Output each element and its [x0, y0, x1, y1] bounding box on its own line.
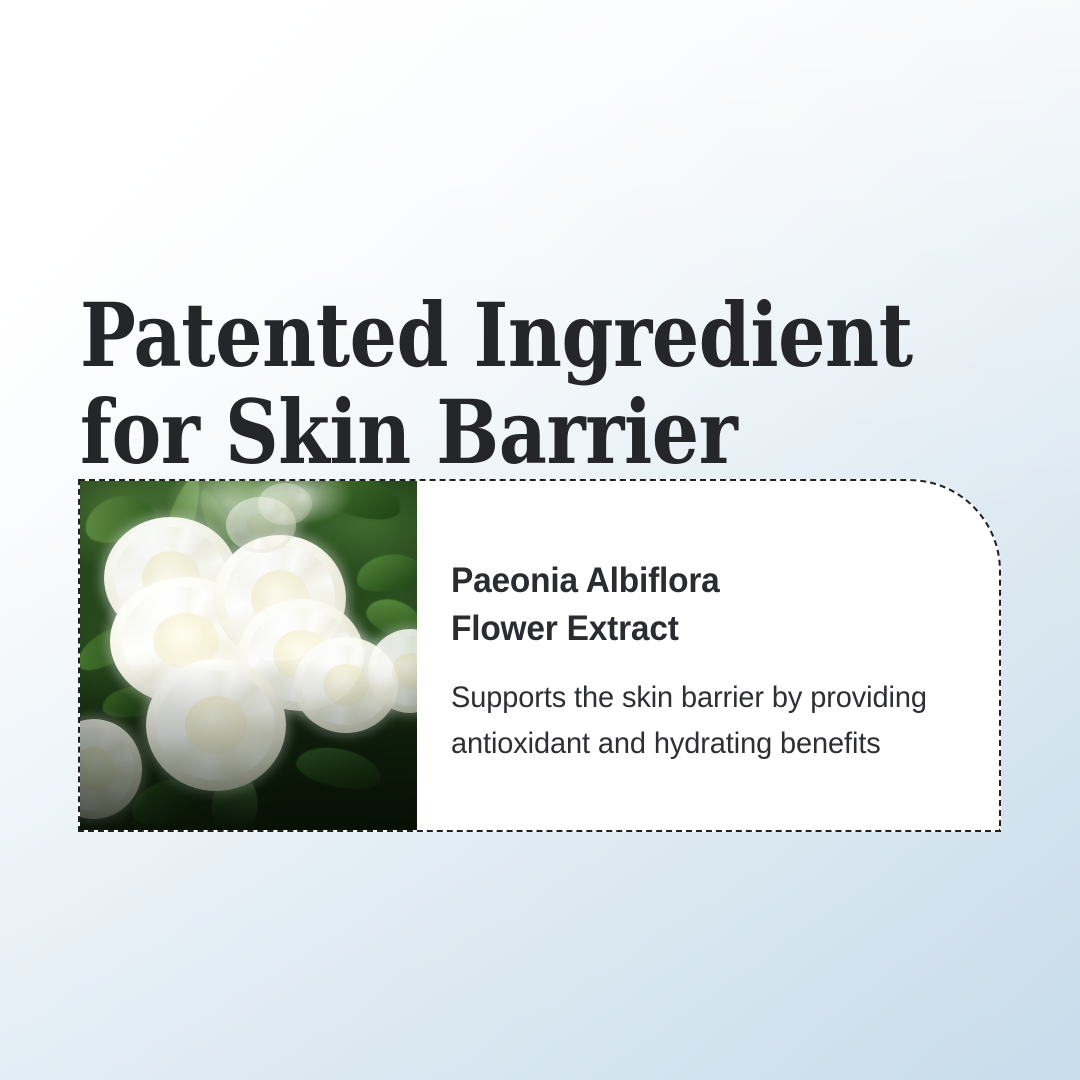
peony-flower-photo — [80, 481, 417, 830]
photo-vignette — [80, 481, 417, 830]
page-title: Patented Ingredient for Skin Barrier — [80, 287, 913, 481]
ingredient-copy: Paeonia Albiflora Flower Extract Support… — [417, 481, 999, 830]
photo-canvas — [80, 481, 417, 830]
ingredient-description-line-2: antioxidant and hydrating benefits — [451, 721, 980, 767]
ingredient-description: Supports the skin barrier by providing a… — [451, 675, 980, 767]
headline-line-2: for Skin Barrier — [80, 384, 913, 481]
ingredient-card: Paeonia Albiflora Flower Extract Support… — [78, 479, 1001, 832]
ingredient-name-line-2: Flower Extract — [451, 605, 974, 653]
headline-line-1: Patented Ingredient — [80, 287, 913, 384]
ingredient-description-line-1: Supports the skin barrier by providing — [451, 675, 980, 721]
ingredient-poster: Patented Ingredient for Skin Barrier — [0, 0, 1080, 1080]
ingredient-name-line-1: Paeonia Albiflora — [451, 557, 974, 605]
ingredient-name: Paeonia Albiflora Flower Extract — [451, 557, 974, 653]
